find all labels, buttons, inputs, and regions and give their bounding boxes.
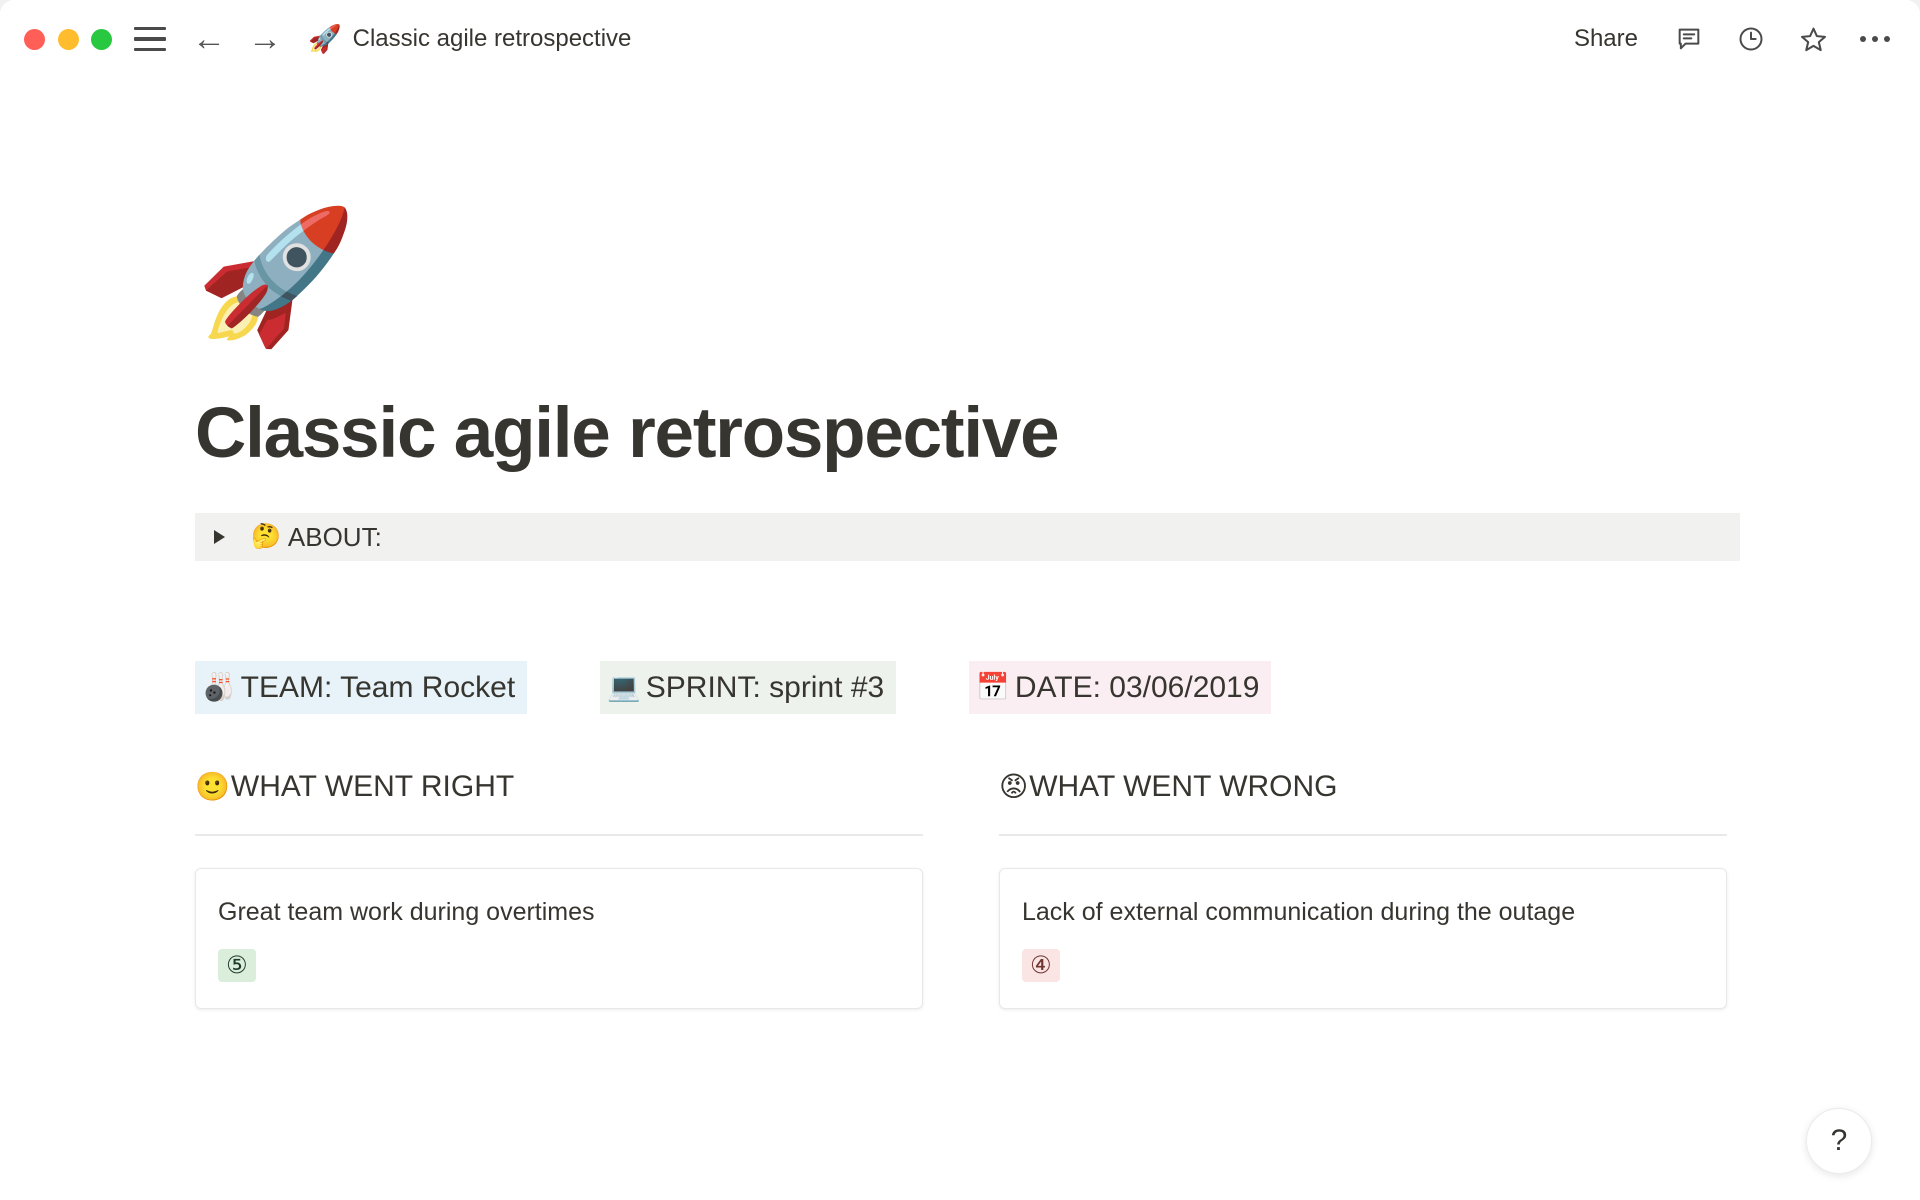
sprint-callout[interactable]: 💻 SPRINT: sprint #3 [600, 661, 896, 714]
thinking-face-icon: 🤔 [251, 525, 281, 549]
page-icon[interactable]: 🚀 [195, 208, 1740, 345]
date-callout-text: DATE: 03/06/2019 [1015, 671, 1260, 705]
breadcrumb-document-title[interactable]: Classic agile retrospective [353, 25, 632, 53]
back-arrow-icon[interactable]: ← [192, 22, 226, 56]
more-options-icon[interactable] [1858, 22, 1892, 56]
column-what-went-right: 🙂 WHAT WENT RIGHT Great team work during… [195, 770, 923, 1009]
comment-icon[interactable] [1672, 22, 1706, 56]
chevron-right-icon[interactable] [214, 530, 225, 544]
page-title[interactable]: Classic agile retrospective [195, 397, 1740, 472]
card-text: Great team work during overtimes [218, 896, 900, 929]
card-item[interactable]: Lack of external communication during th… [999, 868, 1727, 1009]
retrospective-columns: 🙂 WHAT WENT RIGHT Great team work during… [195, 770, 1740, 1009]
column-header-wrong: 😡 WHAT WENT WRONG [999, 770, 1727, 804]
date-callout[interactable]: 📅 DATE: 03/06/2019 [969, 661, 1271, 714]
rocket-icon: 🚀 [308, 26, 342, 53]
angry-face-icon: 😡 [999, 773, 1028, 801]
meta-callout-row: 🎳 TEAM: Team Rocket 💻 SPRINT: sprint #3 … [195, 661, 1740, 714]
app-window: ← → 🚀 Classic agile retrospective Share [0, 0, 1920, 1200]
clock-history-icon[interactable] [1734, 22, 1768, 56]
page-content: 🚀 Classic agile retrospective 🤔 ABOUT: 🎳… [0, 78, 1920, 1009]
card-vote-badge[interactable]: ④ [1022, 949, 1060, 983]
share-button[interactable]: Share [1568, 21, 1644, 57]
bowling-icon: 🎳 [202, 674, 236, 701]
card-vote-badge[interactable]: ⑤ [218, 949, 256, 983]
titlebar-actions: Share [1568, 0, 1892, 78]
smiling-face-icon: 🙂 [195, 773, 230, 801]
star-icon[interactable] [1796, 22, 1830, 56]
column-header-right: 🙂 WHAT WENT RIGHT [195, 770, 923, 804]
card-item[interactable]: Great team work during overtimes ⑤ [195, 868, 923, 1009]
team-callout[interactable]: 🎳 TEAM: Team Rocket [195, 661, 527, 714]
column-what-went-wrong: 😡 WHAT WENT WRONG Lack of external commu… [999, 770, 1727, 1009]
close-window-button[interactable] [24, 29, 45, 50]
hamburger-menu-icon[interactable] [134, 27, 166, 51]
titlebar: ← → 🚀 Classic agile retrospective Share [0, 0, 1920, 78]
laptop-icon: 💻 [607, 674, 641, 701]
minimize-window-button[interactable] [58, 29, 79, 50]
help-button[interactable]: ? [1806, 1108, 1872, 1174]
column-divider [999, 834, 1727, 836]
maximize-window-button[interactable] [91, 29, 112, 50]
column-title-right: WHAT WENT RIGHT [231, 770, 514, 804]
sprint-callout-text: SPRINT: sprint #3 [646, 671, 884, 705]
about-toggle-block[interactable]: 🤔 ABOUT: [195, 513, 1740, 561]
column-title-wrong: WHAT WENT WRONG [1029, 770, 1337, 804]
column-divider [195, 834, 923, 836]
about-toggle-label: ABOUT: [288, 522, 382, 553]
team-callout-text: TEAM: Team Rocket [241, 671, 516, 705]
forward-arrow-icon[interactable]: → [248, 22, 282, 56]
navigation-arrows: ← → [192, 22, 282, 56]
window-controls [24, 29, 112, 50]
card-text: Lack of external communication during th… [1022, 896, 1704, 929]
calendar-icon: 📅 [976, 674, 1010, 701]
